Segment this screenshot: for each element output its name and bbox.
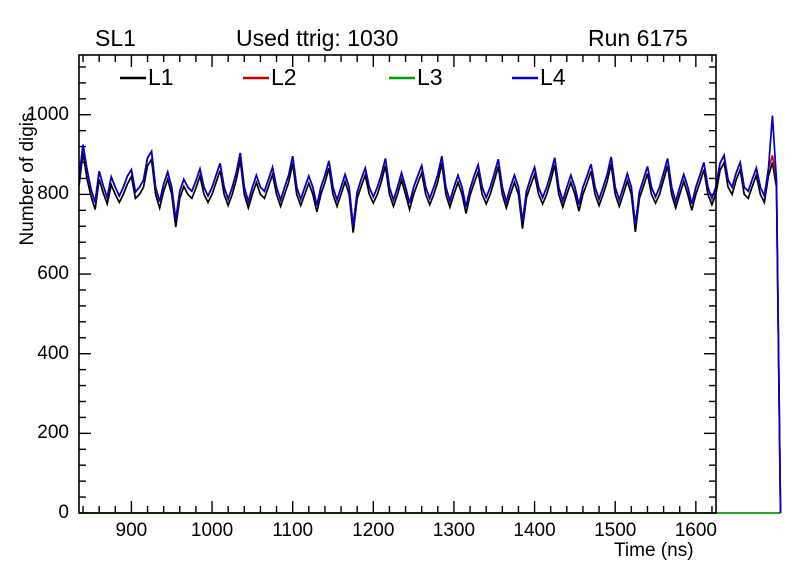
x-tick-label: 1300 bbox=[414, 521, 494, 540]
x-tick-label: 1000 bbox=[172, 521, 252, 540]
x-tick-label: 1400 bbox=[495, 521, 575, 540]
x-tick-label: 1200 bbox=[333, 521, 413, 540]
legend-label-l2: L2 bbox=[271, 66, 297, 89]
series-line-l4 bbox=[79, 116, 781, 513]
legend-label-l4: L4 bbox=[540, 66, 566, 89]
y-tick-label: 0 bbox=[0, 503, 69, 522]
y-tick-label: 800 bbox=[0, 184, 69, 203]
x-tick-label: 1600 bbox=[656, 521, 736, 540]
y-tick-label: 1000 bbox=[0, 105, 69, 124]
frame-layer bbox=[79, 55, 716, 513]
axis-layer bbox=[79, 55, 716, 513]
legend-label-l1: L1 bbox=[148, 66, 174, 89]
y-tick-label: 400 bbox=[0, 344, 69, 363]
plot-area bbox=[0, 0, 796, 572]
root-canvas: SL1 Used ttrig: 1030 Run 6175 Number of … bbox=[0, 0, 796, 572]
legend-label-l3: L3 bbox=[417, 66, 443, 89]
x-tick-label: 1500 bbox=[575, 521, 655, 540]
y-tick-label: 200 bbox=[0, 423, 69, 442]
x-tick-label: 1100 bbox=[253, 521, 333, 540]
x-tick-label: 900 bbox=[91, 521, 171, 540]
series-line-l1 bbox=[79, 153, 781, 513]
series-layer bbox=[79, 116, 781, 513]
y-tick-label: 600 bbox=[0, 264, 69, 283]
